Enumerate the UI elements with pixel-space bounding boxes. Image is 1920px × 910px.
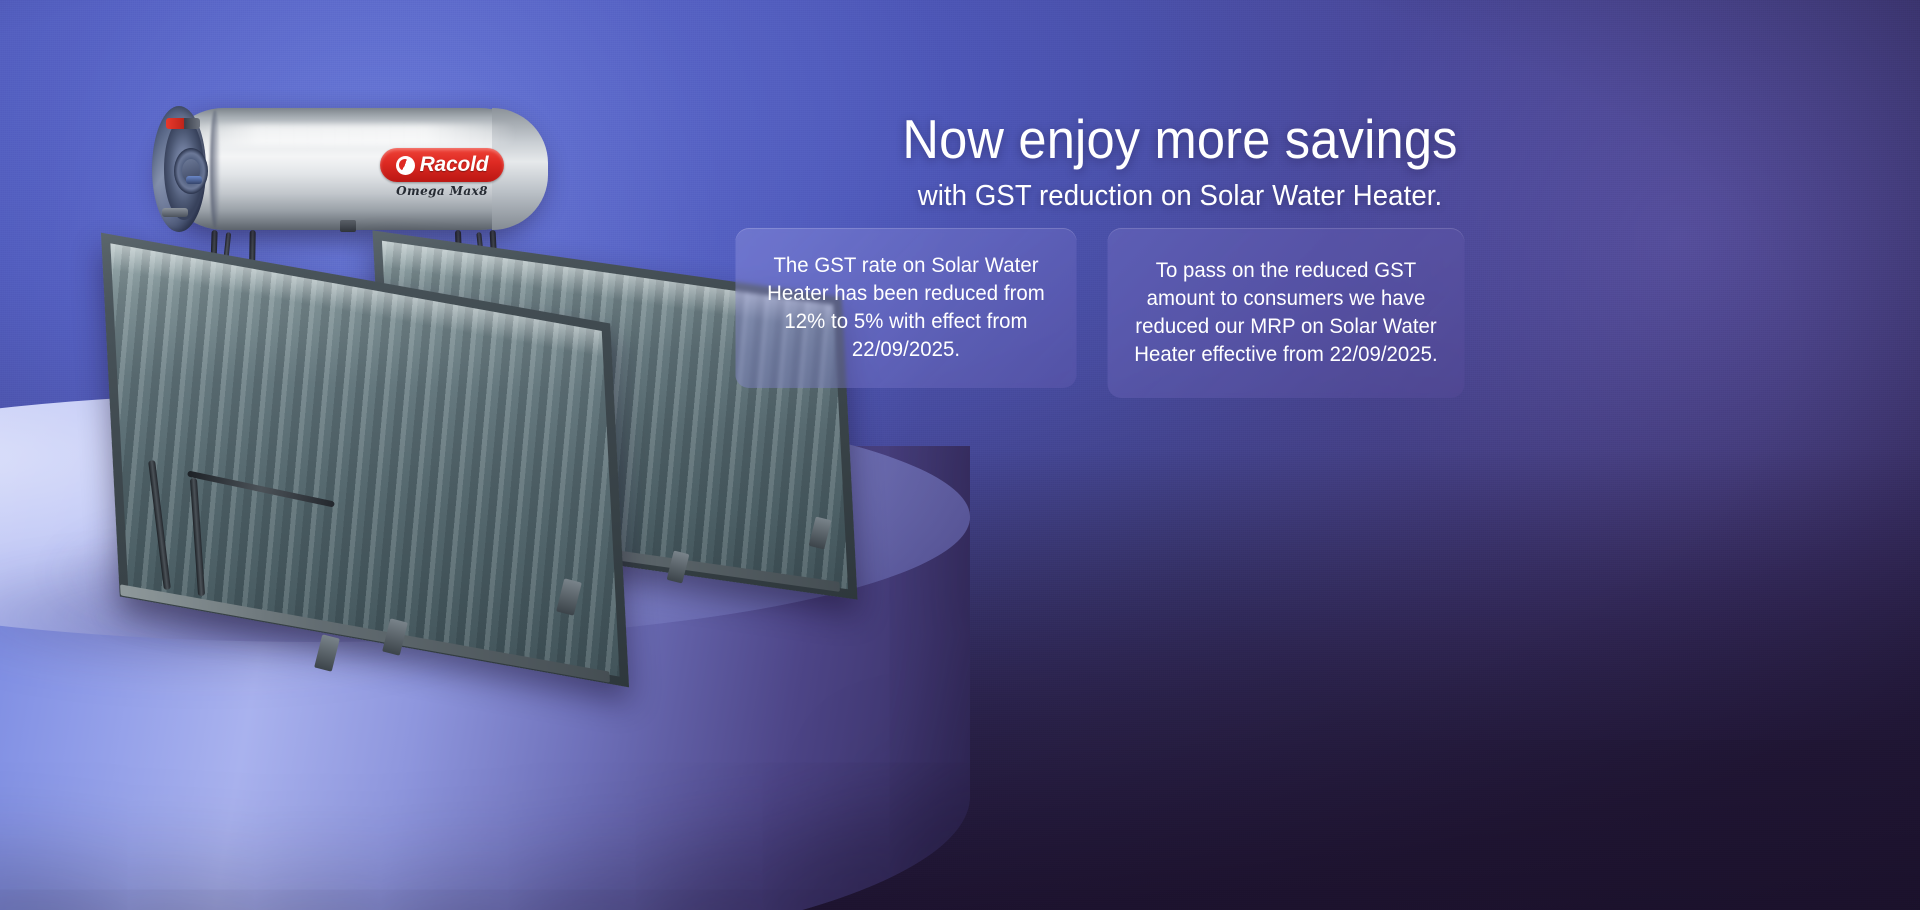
gst-rate-card: The GST rate on Solar Water Heater has b…: [735, 228, 1076, 388]
pressure-relief-valve: [166, 118, 200, 129]
tank-outlet-nipple: [186, 176, 202, 184]
promo-banner: Racold Omega Max8 Now enjoy more savings…: [0, 0, 1920, 910]
page-title: Now enjoy more savings: [683, 111, 1677, 167]
page-subtitle: with GST reduction on Solar Water Heater…: [667, 180, 1693, 213]
product-model-name: Omega Max8: [380, 184, 504, 198]
racold-wordmark: Racold: [420, 153, 489, 177]
racold-logo: Racold: [380, 148, 504, 182]
collector-1-foot-left: [314, 634, 340, 671]
racold-mark-icon: [396, 156, 415, 175]
tank-seam: [210, 110, 220, 228]
info-card-group: The GST rate on Solar Water Heater has b…: [730, 228, 1890, 398]
tank-highlight: [186, 124, 516, 146]
tank-inlet-nipple: [162, 208, 188, 217]
mrp-reduction-card: To pass on the reduced GST amount to con…: [1108, 228, 1465, 398]
tank-side-port: [340, 220, 356, 232]
